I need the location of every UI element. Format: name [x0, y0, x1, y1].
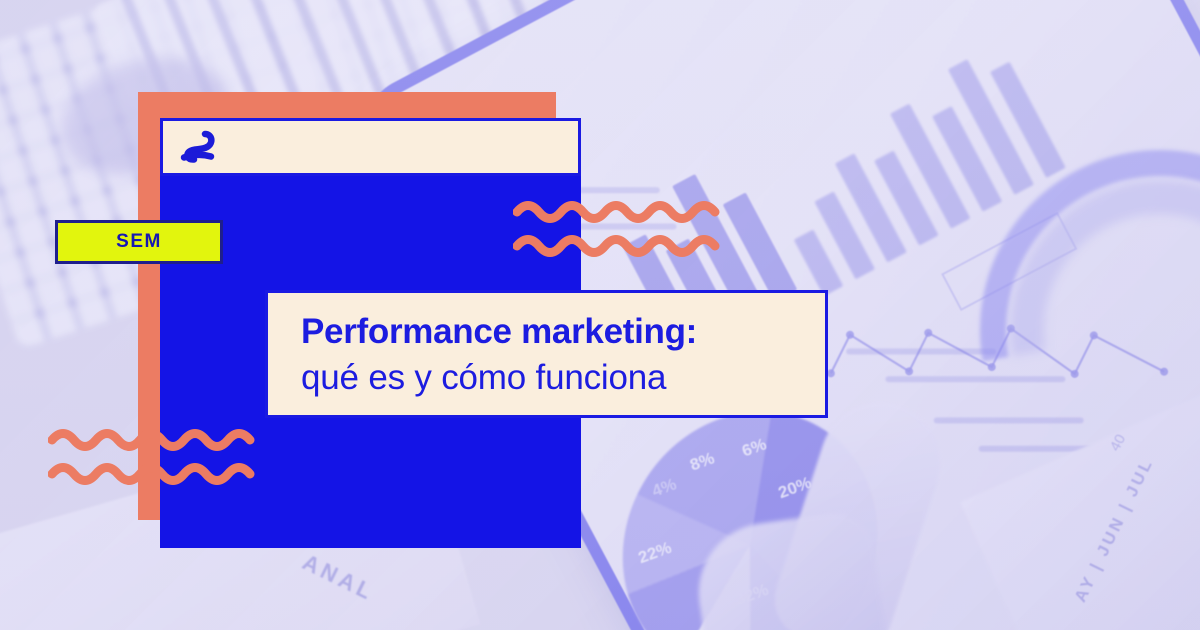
- category-badge-label: SEM: [116, 231, 162, 253]
- title-line-1: Performance marketing:: [301, 309, 795, 355]
- category-badge-sem[interactable]: SEM: [55, 220, 223, 264]
- brand-loop-logo-icon: [179, 129, 223, 167]
- logo-bar: [160, 118, 581, 176]
- wave-decoration-top: [513, 196, 725, 258]
- title-card: Performance marketing: qué es y cómo fun…: [265, 290, 828, 418]
- wave-decoration-bottom: [48, 424, 260, 486]
- cover-canvas: 8% 6% 20% 22% 32% 4% ANAL AY | JUN | JUL…: [0, 0, 1200, 630]
- title-line-2: qué es y cómo funciona: [301, 355, 795, 401]
